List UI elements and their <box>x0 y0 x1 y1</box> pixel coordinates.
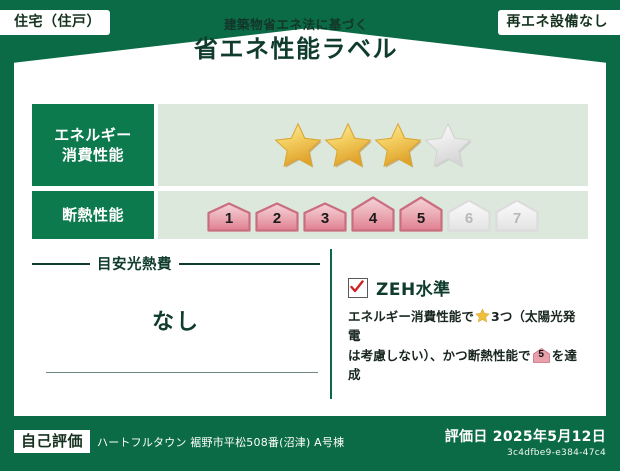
insulation-performance-value: 1234567 <box>158 191 588 239</box>
energy-performance-value <box>158 104 588 186</box>
energy-performance-label-box: エネルギー 消費性能 <box>32 104 154 186</box>
insulation-step-number: 2 <box>255 210 299 227</box>
property-name: ハートフルタウン 裾野市平松508番(沼津) A号棟 <box>97 434 344 450</box>
utility-cost-title: 目安光熱費 <box>97 253 172 274</box>
star-filled-icon <box>374 121 422 169</box>
insulation-step: 4 <box>351 196 395 232</box>
cost-rule-right <box>179 263 320 265</box>
insulation-performance-row: 断熱性能 1234567 <box>32 191 588 239</box>
evaluation-id: 3c4dfbe9-e384-47c4 <box>445 448 606 458</box>
insulation-step-number: 1 <box>207 210 251 227</box>
footer-right: 評価日 2025年5月12日 3c4dfbe9-e384-47c4 <box>445 426 606 458</box>
star-filled-icon <box>324 121 372 169</box>
star-rating <box>274 121 472 169</box>
zeh-header: ZEH水準 <box>348 275 584 300</box>
insulation-step: 3 <box>303 202 347 232</box>
zeh-section: ZEH水準 エネルギー消費性能で3つ（太陽光発電は考慮しない）、かつ断熱性能で5… <box>332 249 588 399</box>
zeh-description: エネルギー消費性能で3つ（太陽光発電は考慮しない）、かつ断熱性能で5を達成 <box>348 307 584 385</box>
star-empty-icon <box>424 121 472 169</box>
utility-cost-section: 目安光熱費 なし <box>32 249 332 399</box>
insulation-performance-label-box: 断熱性能 <box>32 191 154 239</box>
cost-bottom-divider <box>46 372 318 374</box>
energy-performance-label: 住宅（住戸） 再エネ設備なし 建築物省エネ法に基づく 省エネ性能ラベル エネルギ… <box>0 0 620 471</box>
insulation-scale: 1234567 <box>207 196 539 234</box>
label-content: エネルギー 消費性能 断熱性能 1234567 目安光熱費 <box>14 28 606 416</box>
cost-rule-left <box>32 263 90 265</box>
insulation-step: 1 <box>207 202 251 232</box>
check-icon <box>350 280 364 294</box>
insulation-step-number: 5 <box>399 210 443 227</box>
self-evaluation-badge: 自己評価 <box>14 430 90 454</box>
zeh-checkbox[interactable] <box>348 278 368 298</box>
energy-label-line1: エネルギー <box>54 125 132 145</box>
star-filled-icon <box>274 121 322 169</box>
evaluation-date: 評価日 2025年5月12日 <box>445 426 606 446</box>
insulation-step: 2 <box>255 202 299 232</box>
inline-insulation-badge: 5 <box>533 348 550 363</box>
utility-cost-header: 目安光熱費 <box>32 253 320 274</box>
inline-star-icon <box>475 308 490 323</box>
insulation-label: 断熱性能 <box>62 205 124 225</box>
insulation-step: 5 <box>399 196 443 232</box>
inline-badge-number: 5 <box>533 347 550 363</box>
zeh-desc-part1: エネルギー消費性能で <box>348 309 474 324</box>
building-type-tag: 住宅（住戸） <box>0 10 110 35</box>
insulation-step: 7 <box>495 199 539 232</box>
lower-section: 目安光熱費 なし ZEH水準 エネルギー消費性能で3つ（太陽光発電は考慮しな <box>32 249 588 399</box>
insulation-step: 6 <box>447 199 491 232</box>
insulation-step-number: 6 <box>447 210 491 227</box>
insulation-step-number: 3 <box>303 210 347 227</box>
utility-cost-value: なし <box>32 304 320 336</box>
zeh-title: ZEH水準 <box>376 275 451 300</box>
energy-performance-row: エネルギー 消費性能 <box>32 104 588 186</box>
energy-label-line2: 消費性能 <box>62 145 124 165</box>
renewable-equipment-tag: 再エネ設備なし <box>498 10 620 35</box>
label-footer: 自己評価 ハートフルタウン 裾野市平松508番(沼津) A号棟 評価日 2025… <box>0 416 620 471</box>
zeh-desc-part3: は考慮しない）、かつ断熱性能で <box>348 348 531 363</box>
insulation-step-number: 4 <box>351 210 395 227</box>
insulation-step-number: 7 <box>495 210 539 227</box>
